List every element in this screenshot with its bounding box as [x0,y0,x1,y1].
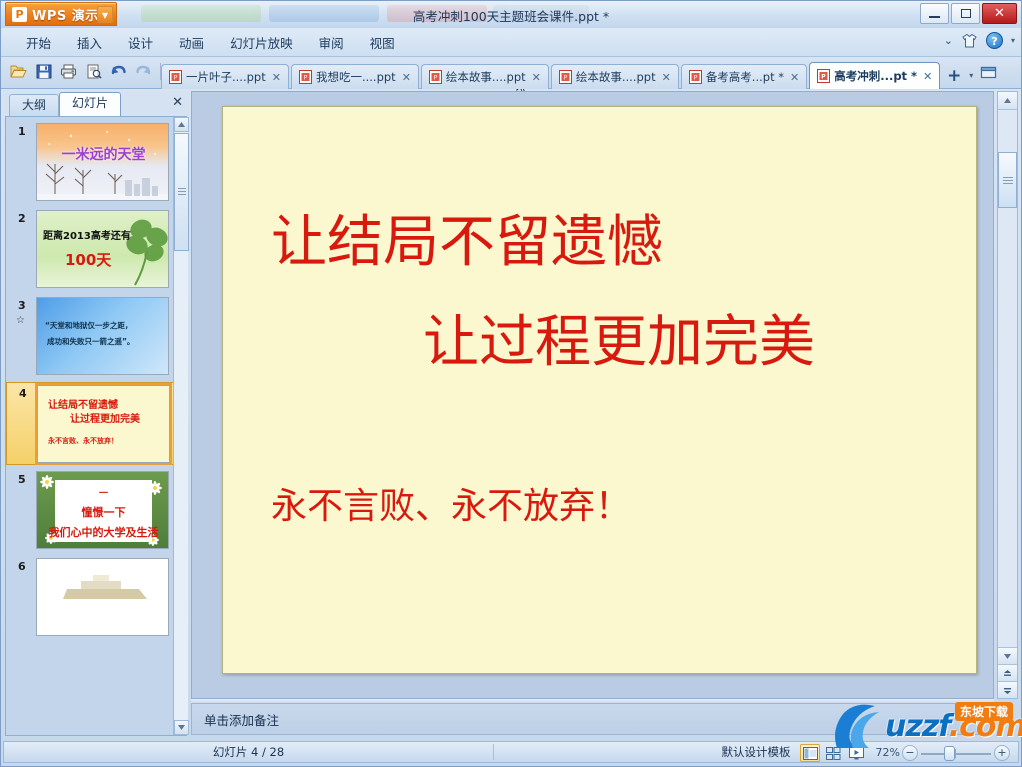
file-tab-label: 高考冲刺...pt * [834,68,917,84]
title-bar: P WPS 演示 ▼ 高考冲刺100天主题班会课件.ppt * ✕ [1,1,1021,28]
file-tab-6-active[interactable]: P 高考冲刺...pt * ✕ [809,62,940,89]
thumbnail-number: 1 [18,125,26,138]
chevron-down-icon[interactable]: ⌄ [944,34,953,47]
file-tab-label: 一片叶子....ppt [186,69,266,85]
powerpoint-file-icon: P [169,70,182,84]
previous-slide-button[interactable] [998,664,1017,681]
powerpoint-file-icon: P [689,70,702,84]
undo-icon[interactable] [107,60,130,83]
file-tab-label: 我想吃一....ppt [316,69,396,85]
powerpoint-file-icon: P [559,70,572,84]
thumbnail-text: 永不言败、永不放弃！ [48,436,118,446]
thumbnail-scrollbar[interactable] [173,117,188,735]
close-icon[interactable]: ✕ [921,70,934,83]
file-tab-bar: ▾ P 一片叶子....ppt ✕ [1,57,1021,89]
close-icon[interactable]: ✕ [530,71,543,84]
watermark: uzzf.com 东坡下载 [829,700,1017,752]
svg-text:P: P [694,75,698,82]
list-item[interactable]: 1 [6,121,186,204]
thumbnail-preview[interactable]: 距离2013高考还有 100天 [36,210,169,288]
svg-text:P: P [822,74,827,81]
close-panel-icon[interactable]: ✕ [172,95,183,110]
scrollbar-thumb[interactable] [998,152,1017,208]
thumbnail-preview[interactable]: 一 憧憬一下 我们心中的大学及生活 [36,471,169,549]
chevron-down-icon[interactable]: ▾ [1011,36,1015,45]
list-item[interactable]: 5 一 憧憬一下 我们心中的大学及生活 [6,469,186,552]
file-tab-label: 备考高考...pt * [706,69,784,85]
file-tab-2[interactable]: P 我想吃一....ppt ✕ [291,64,419,89]
minimize-icon [929,16,940,18]
close-icon: ✕ [994,6,1005,21]
powerpoint-file-icon: P [817,69,830,83]
close-icon[interactable]: ✕ [788,71,801,84]
skin-shirt-icon[interactable] [961,33,978,49]
close-button[interactable]: ✕ [982,3,1017,24]
maximize-icon [961,9,971,18]
notes-placeholder: 单击添加备注 [204,713,279,728]
thumbnail-preview[interactable]: 一米远的天堂 [36,123,169,201]
menu-item-view[interactable]: 视图 [357,29,408,56]
thumbnail-text: “天堂和地狱仅一步之距， [45,320,132,331]
thumbnail-preview[interactable]: “天堂和地狱仅一步之距， 成功和失败只一箭之遥”。 [36,297,169,375]
wps-presentation-window: P WPS 演示 ▼ 高考冲刺100天主题班会课件.ppt * ✕ 开始 插入 … [0,0,1022,767]
slide-body-line[interactable]: 永不言败、永不放弃！ [271,477,631,529]
thumbnail-number: 4 [19,387,27,400]
new-tab-button[interactable]: + [942,65,966,89]
menu-item-start[interactable]: 开始 [13,29,64,56]
slide-editing-stage[interactable]: 让结局不留遗憾 让过程更加完美 永不言败、永不放弃！ [191,91,994,699]
thumbnail-number: 6 [18,560,26,573]
slide-title-line-2[interactable]: 让过程更加完美 [423,297,815,378]
thumbnail-number: 2 [18,212,26,225]
scrollbar-bottom-controls [998,647,1017,698]
thumbnail-preview[interactable]: 让结局不留遗憾 让过程更加完美 永不言败、永不放弃！ [37,385,170,463]
print-icon[interactable] [57,60,80,83]
thumbnail-number: 3 [18,299,26,312]
chevron-down-icon[interactable]: ▾ [966,71,976,80]
watermark-brand: uzzf [885,709,949,744]
svg-text:P: P [564,75,568,82]
scroll-up-icon[interactable] [998,92,1017,110]
list-item[interactable]: 6 [6,556,186,639]
close-icon[interactable]: ✕ [660,71,673,84]
file-tab-label: 绘本故事....ppt [446,69,526,85]
scrollbar-thumb[interactable] [174,133,189,251]
scroll-up-icon[interactable] [174,117,189,132]
powerpoint-file-icon: P [299,70,312,84]
restore-window-icon[interactable] [979,64,1001,86]
close-icon[interactable]: ✕ [400,71,413,84]
next-slide-button[interactable] [998,681,1017,698]
scroll-down-icon[interactable] [174,720,189,735]
document-title: 高考冲刺100天主题班会课件.ppt * [1,6,1021,25]
thumbnail-text: 一 [37,486,169,499]
menu-bar-right-controls: ⌄ ? ▾ [944,32,1015,49]
slide-vertical-scrollbar[interactable] [997,91,1018,699]
thumbnail-text: 我们心中的大学及生活 [37,524,169,540]
thumbnail-text: 让过程更加完美 [70,410,140,425]
file-tab-4[interactable]: P 绘本故事....ppt ✕ [551,64,679,89]
open-icon[interactable] [7,60,30,83]
thumbnail-text: 憧憬一下 [37,504,169,520]
current-slide[interactable]: 让结局不留遗憾 让过程更加完美 永不言败、永不放弃！ [222,106,977,674]
list-item[interactable]: 3 ☆ “天堂和地狱仅一步之距， 成功和失败只一箭之遥”。 [6,295,186,378]
thumbnail-text: 100天 [65,249,111,270]
menu-item-list: 开始 插入 设计 动画 幻灯片放映 审阅 视图 [1,28,1021,57]
tab-slides[interactable]: 幻灯片 [59,92,121,116]
minimize-button[interactable] [920,3,949,24]
menu-bar: 开始 插入 设计 动画 幻灯片放映 审阅 视图 ⌄ ? ▾ [1,28,1021,57]
file-tab-3[interactable]: P 绘本故事....ppt ✕ [421,64,549,89]
slide-counter: 幻灯片 4 / 28 [4,744,494,760]
svg-text:P: P [174,75,178,82]
thumbnail-text: 距离2013高考还有 [43,227,131,242]
thumbnail-preview[interactable] [36,558,169,636]
svg-text:P: P [434,75,438,82]
navigator-tabs: 大纲 幻灯片 ✕ [3,91,189,116]
menu-item-review[interactable]: 审阅 [306,29,357,56]
thumbnail-text: 让结局不留遗憾 [48,396,118,411]
redo-icon[interactable] [132,60,155,83]
menu-item-insert[interactable]: 插入 [64,29,115,56]
menu-item-animation[interactable]: 动画 [166,29,217,56]
powerpoint-file-icon: P [429,70,442,84]
watermark-badge: 东坡下载 [955,702,1013,721]
normal-view-button[interactable] [800,744,820,762]
tab-outline[interactable]: 大纲 [9,94,59,116]
slide-navigator-panel: 大纲 幻灯片 ✕ 1 [3,91,189,739]
file-tab-5[interactable]: P 备考高考...pt * ✕ [681,64,807,89]
menu-item-slideshow[interactable]: 幻灯片放映 [217,29,306,56]
scroll-down-icon[interactable] [998,647,1017,664]
list-item-selected[interactable]: 4 让结局不留遗憾 让过程更加完美 永不言败、永不放弃！ [6,382,186,465]
thumbnail-text: 成功和失败只一箭之遥”。 [47,336,134,347]
menu-item-design[interactable]: 设计 [115,29,166,56]
save-icon[interactable] [32,60,55,83]
file-tab-label: 绘本故事....ppt [576,69,656,85]
animation-star-icon: ☆ [16,315,25,326]
document-tabs: P 一片叶子....ppt ✕ P 我想吃一....ppt ✕ [161,61,1001,89]
thumbnail-number: 5 [18,473,26,486]
thumbnail-text: 一米远的天堂 [41,144,166,164]
slide-thumbnail-list[interactable]: 1 [5,116,187,736]
list-item[interactable]: 2 距离2013高考还有 100天 [6,208,186,291]
print-preview-icon[interactable] [82,60,105,83]
file-tab-1[interactable]: P 一片叶子....ppt ✕ [161,64,289,89]
slide-title-line-1[interactable]: 让结局不留遗憾 [271,197,663,278]
help-icon[interactable]: ? [986,32,1003,49]
wave-logo-icon [831,704,891,750]
zoom-track[interactable] [921,753,991,755]
maximize-button[interactable] [951,3,980,24]
close-icon[interactable]: ✕ [270,71,283,84]
svg-text:P: P [304,75,308,82]
